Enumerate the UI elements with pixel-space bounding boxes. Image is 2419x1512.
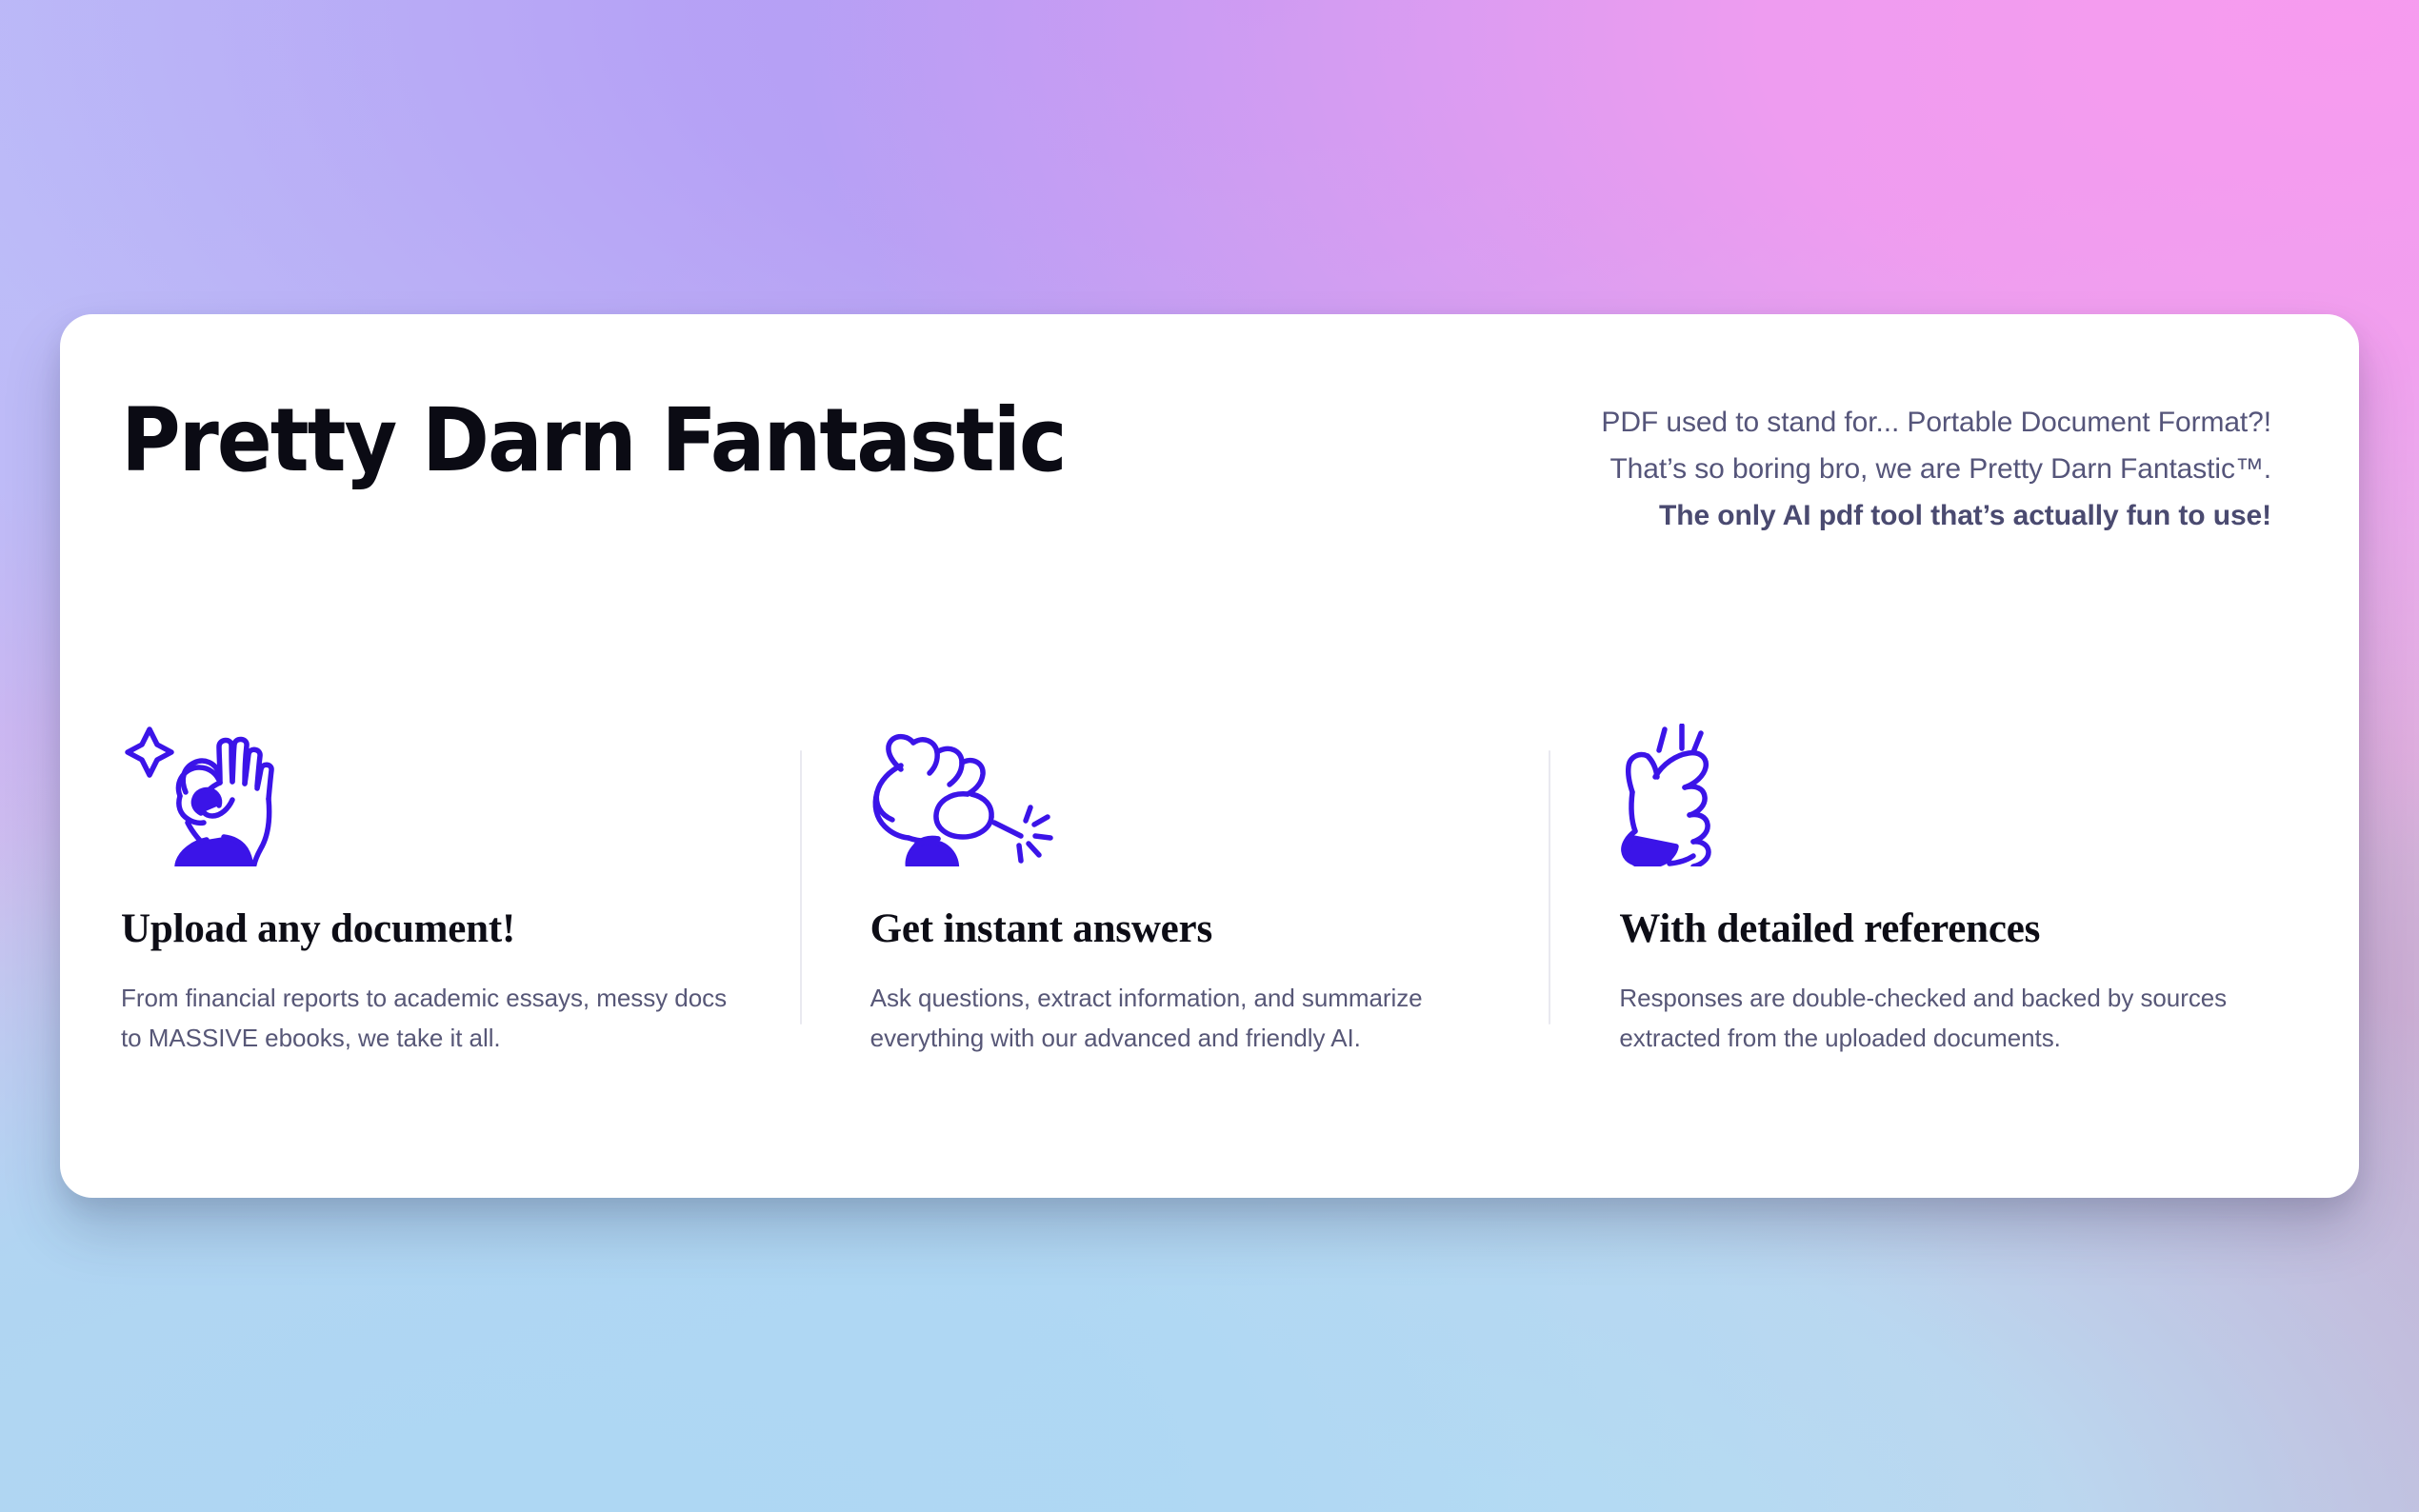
feature-title: Upload any document! [121,906,733,951]
feature-title: Get instant answers [870,906,1483,951]
column-divider [800,750,802,1025]
feature-references: With detailed references Responses are d… [1549,724,2298,1059]
feature-list: Upload any document! From financial repo… [60,724,2359,1059]
tagline-line-3: The only AI pdf tool that’s actually fun… [1601,493,2271,540]
feature-body: From financial reports to academic essay… [121,978,733,1058]
hero-card: Pretty Darn Fantastic PDF used to stand … [60,314,2359,1198]
ok-hand-pointing-sparkle-icon [870,724,1483,866]
feature-body: Responses are double-checked and backed … [1619,978,2231,1058]
hero-top-row: Pretty Darn Fantastic PDF used to stand … [60,314,2359,540]
tagline-line-2: That’s so boring bro, we are Pretty Darn… [1601,447,2271,493]
page-title: Pretty Darn Fantastic [121,387,1066,486]
ok-hand-sparkle-icon [121,724,733,866]
tagline-line-1: PDF used to stand for... Portable Docume… [1601,400,2271,447]
snapping-fingers-icon [1619,724,2231,866]
column-divider [1549,750,1550,1025]
feature-upload: Upload any document! From financial repo… [121,724,800,1059]
tagline-block: PDF used to stand for... Portable Docume… [1601,387,2271,540]
feature-body: Ask questions, extract information, and … [870,978,1483,1058]
feature-answers: Get instant answers Ask questions, extra… [800,724,1549,1059]
feature-title: With detailed references [1619,906,2231,951]
